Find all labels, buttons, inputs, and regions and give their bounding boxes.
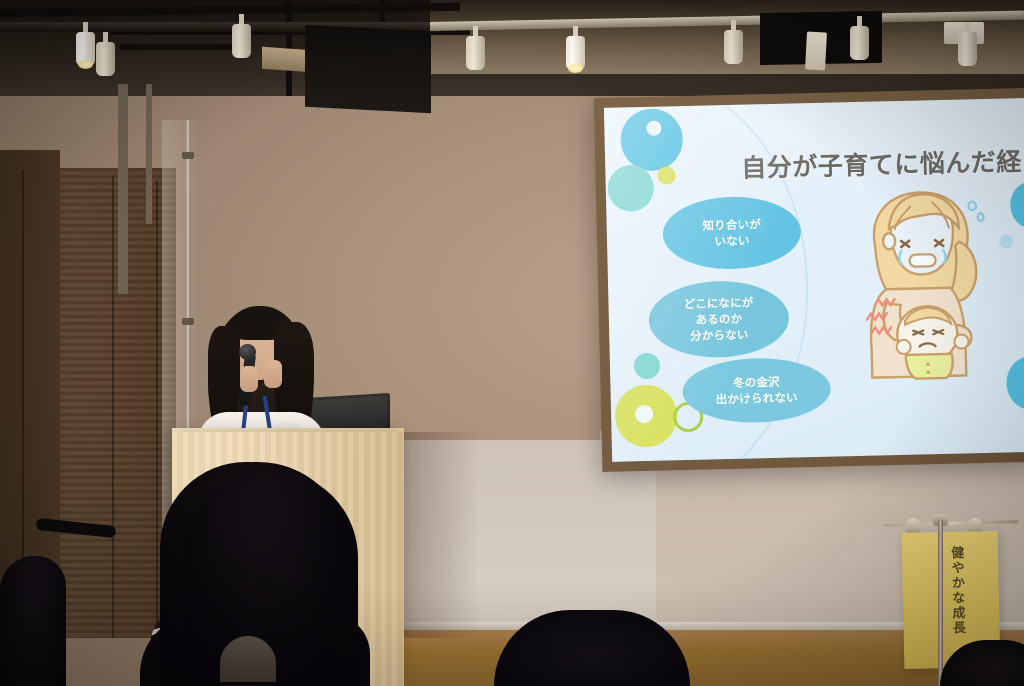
crying-mother-and-baby-illustration [850,183,995,382]
ceiling-conduit [118,84,128,294]
pole-clip [182,152,194,159]
mic-stand-pole [938,520,943,686]
spotlight-glow [568,64,583,73]
spotlight-can [958,32,977,66]
projection-screen-frame: 自分が子育てに悩んだ経 知り合いが いない どこになにが あるのか 分からない … [594,88,1024,472]
decor-dot-lightblue [999,234,1013,248]
decor-dot-blue [1006,355,1024,410]
bubble-line: いない [714,233,749,250]
banner-text: 健やかな成長 [948,546,964,636]
bubble-line: どこになにが [684,294,754,312]
audience-silhouette-left [0,556,66,686]
ceiling-pipe [120,44,242,50]
spotlight-can [96,42,115,76]
spotlight-can [466,36,485,70]
ceiling-speaker [305,25,431,114]
bubble-line: あるのか [695,311,742,328]
microphone-head [239,344,256,360]
ceiling-conduit [146,84,152,224]
banner-hook [906,518,920,534]
bubble-line: 知り合いが [702,216,761,234]
spotlight-glow [78,60,93,69]
panel-seam [112,176,114,638]
bubble-line: 冬の金沢 [733,374,780,391]
decor-dot-blue [1010,181,1024,228]
spotlight-can [724,30,743,64]
bubble-line: 分からない [690,327,749,345]
projection-screen: 自分が子育てに悩んだ経 知り合いが いない どこになにが あるのか 分からない … [604,98,1024,462]
presenter-hand-raised [264,360,282,388]
presentation-photo-scene: 自分が子育てに悩んだ経 知り合いが いない どこになにが あるのか 分からない … [0,0,1024,686]
panel-seam [156,180,158,636]
podium-shadow [404,432,480,638]
presenter-hand-on-mic [240,366,258,392]
spotlight-can [850,26,869,60]
slide-title: 自分が子育てに悩んだ経 [741,142,1022,185]
ceiling-hanging-box [805,32,827,71]
spotlight-can [232,24,251,58]
bubble-line: 出かけられない [716,389,798,407]
